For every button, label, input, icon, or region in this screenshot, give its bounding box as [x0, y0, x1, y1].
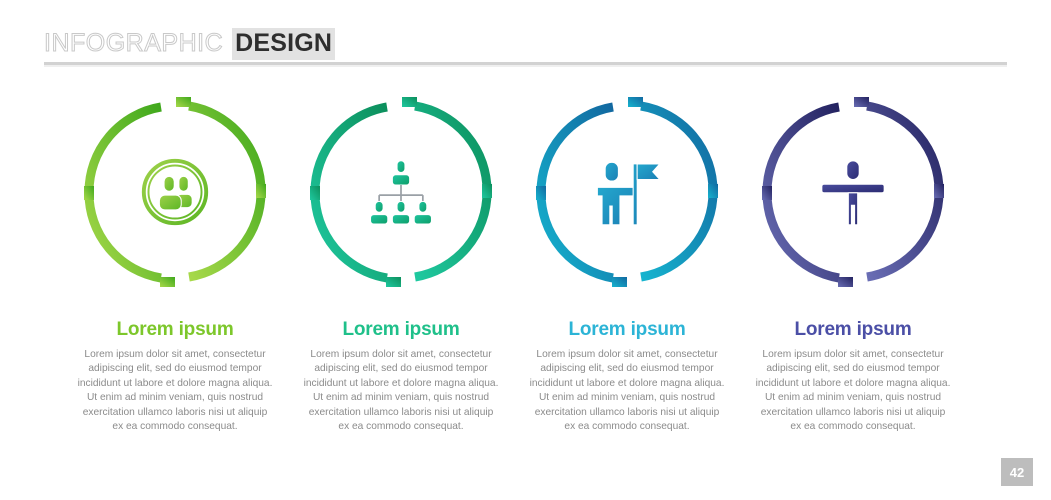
page-title: INFOGRAPHIC DESIGN [44, 28, 1007, 56]
person-with-flag-icon [524, 88, 730, 296]
users-group-icon [72, 88, 278, 296]
infographic-column-4: Lorem ipsumLorem ipsum dolor sit amet, c… [740, 88, 966, 435]
column-body-text-2: Lorem ipsum dolor sit amet, consectetur … [302, 348, 500, 435]
title-word-infographic: INFOGRAPHIC [44, 29, 223, 58]
segmented-ring-3[interactable] [524, 88, 730, 296]
infographic-columns: Lorem ipsumLorem ipsum dolor sit amet, c… [0, 88, 1051, 435]
page-header: INFOGRAPHIC DESIGN [44, 28, 1007, 67]
person-arms-out-icon [750, 88, 956, 296]
column-heading-4: Lorem ipsum [794, 320, 911, 339]
infographic-column-1: Lorem ipsumLorem ipsum dolor sit amet, c… [62, 88, 288, 435]
segmented-ring-4[interactable] [750, 88, 956, 296]
org-chart-hierarchy-icon [298, 88, 504, 296]
page-number-badge: 42 [1001, 458, 1033, 486]
column-body-text-1: Lorem ipsum dolor sit amet, consectetur … [76, 348, 274, 435]
header-divider [44, 62, 1007, 67]
column-heading-2: Lorem ipsum [342, 320, 459, 339]
column-heading-3: Lorem ipsum [568, 320, 685, 339]
column-body-text-3: Lorem ipsum dolor sit amet, consectetur … [528, 348, 726, 435]
title-word-design: DESIGN [232, 28, 335, 60]
segmented-ring-1[interactable] [72, 88, 278, 296]
segmented-ring-2[interactable] [298, 88, 504, 296]
column-body-text-4: Lorem ipsum dolor sit amet, consectetur … [754, 348, 952, 435]
column-heading-1: Lorem ipsum [116, 320, 233, 339]
infographic-column-2: Lorem ipsumLorem ipsum dolor sit amet, c… [288, 88, 514, 435]
infographic-column-3: Lorem ipsumLorem ipsum dolor sit amet, c… [514, 88, 740, 435]
